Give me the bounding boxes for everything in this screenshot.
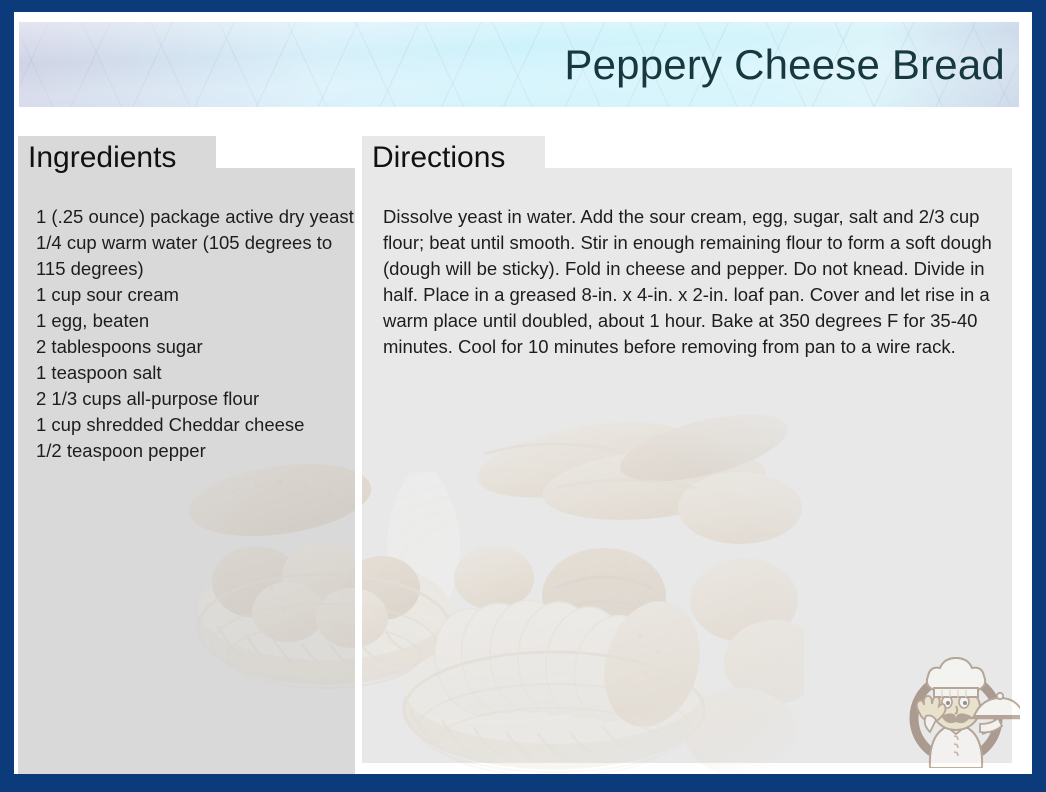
recipe-card-body: Peppery Cheese Bread [14, 12, 1032, 774]
ingredients-heading-label: Ingredients [28, 141, 176, 175]
ingredient-item: 1 cup sour cream [36, 282, 356, 308]
page-title: Peppery Cheese Bread [564, 41, 1005, 89]
ingredient-item: 1 egg, beaten [36, 308, 356, 334]
ingredient-item: 1 (.25 ounce) package active dry yeast [36, 204, 356, 230]
ingredient-item: 1/2 teaspoon pepper [36, 438, 356, 464]
ingredient-item: 2 1/3 cups all-purpose flour [36, 386, 356, 412]
panel-divider [355, 168, 362, 774]
ingredient-item: 1 cup shredded Cheddar cheese [36, 412, 356, 438]
directions-body: Dissolve yeast in water. Add the sour cr… [383, 204, 1003, 360]
ingredients-list: 1 (.25 ounce) package active dry yeast1/… [36, 204, 356, 464]
directions-heading-tab: Directions [362, 136, 545, 180]
ingredients-heading-tab: Ingredients [18, 136, 216, 180]
title-banner: Peppery Cheese Bread [19, 22, 1019, 107]
directions-heading-label: Directions [372, 141, 505, 175]
ingredient-item: 1 teaspoon salt [36, 360, 356, 386]
recipe-card-frame: Peppery Cheese Bread [0, 0, 1046, 792]
ingredient-item: 2 tablespoons sugar [36, 334, 356, 360]
ingredient-item: 1/4 cup warm water (105 degrees to 115 d… [36, 230, 356, 282]
